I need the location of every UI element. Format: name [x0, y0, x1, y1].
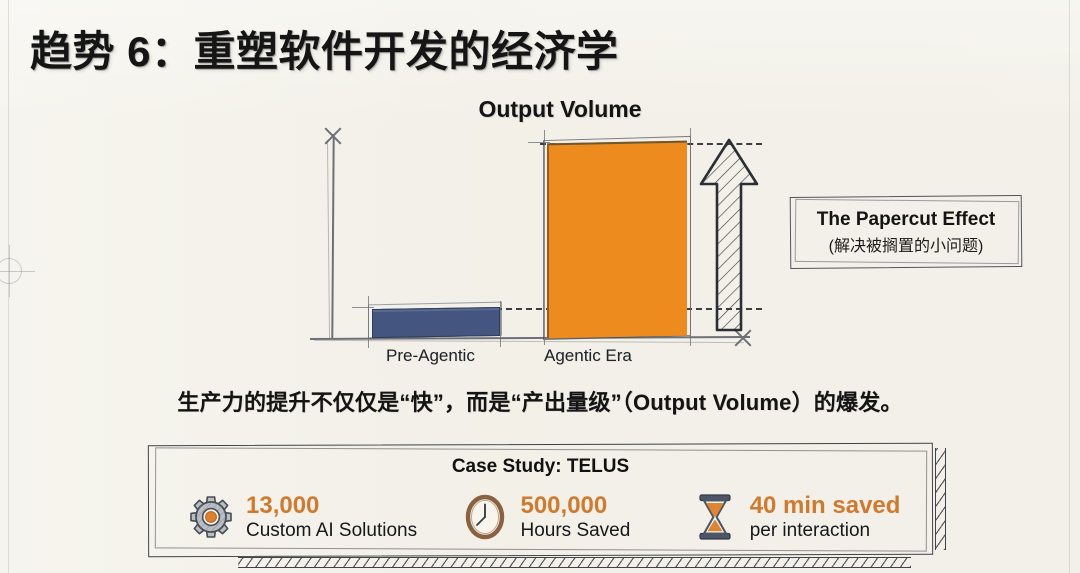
slide-canvas: 趋势 6：重塑软件开发的经济学 Output Volume — [0, 0, 1080, 573]
stat-text-group: 40 min saved per interaction — [750, 493, 901, 541]
stat-item-custom-ai-solutions: 13,000 Custom AI Solutions — [174, 492, 458, 542]
tick-pre-agentic-left — [368, 296, 369, 348]
output-volume-chart: Output Volume — [300, 96, 820, 376]
case-study-panel: Case Study: TELUS — [148, 444, 933, 556]
gear-icon — [188, 492, 234, 542]
slide-subtitle: 生产力的提升不仅仅是“快”，而是“产出量级”（Output Volume）的爆发… — [0, 385, 1080, 417]
stat-text-group: 500,000 Hours Saved — [520, 493, 630, 541]
callout-title: The Papercut Effect — [817, 209, 995, 231]
chart-title: Output Volume — [300, 96, 820, 123]
stat-item-hours-saved: 500,000 Hours Saved — [458, 492, 685, 542]
y-axis — [331, 134, 334, 339]
clock-icon — [462, 492, 508, 542]
stat-value: 13,000 — [246, 493, 417, 520]
panel-hatch-right — [935, 448, 946, 550]
stat-text-group: 13,000 Custom AI Solutions — [246, 493, 417, 541]
stat-value: 40 min saved — [750, 493, 901, 520]
stat-value: 500,000 — [520, 493, 630, 520]
callout-text-group: The Papercut Effect (解决被搁置的小问题) — [790, 196, 1022, 268]
y-axis-cross-icon — [322, 124, 344, 146]
bar-label-pre-agentic: Pre-Agentic — [386, 346, 475, 366]
stat-label: Custom AI Solutions — [246, 520, 417, 541]
tick-agentic-left — [544, 130, 545, 345]
tick-pre-agentic-right — [500, 301, 501, 347]
page-title: 趋势 6：重塑软件开发的经济学 — [30, 18, 619, 79]
case-study-title: Case Study: TELUS — [148, 456, 933, 478]
tick-agentic-right — [690, 128, 691, 346]
tick-agentic-top — [528, 142, 550, 143]
y-axis-sketch — [327, 140, 330, 338]
tick-pre-agentic-top — [352, 307, 374, 308]
growth-arrow-icon — [698, 136, 760, 336]
hourglass-icon — [692, 492, 738, 542]
stat-label: Hours Saved — [520, 520, 630, 541]
bar-label-agentic-era: Agentic Era — [544, 346, 632, 366]
panel-hatch-bottom — [238, 557, 911, 568]
bar-pre-agentic — [372, 307, 500, 338]
registration-line-right — [1069, 0, 1070, 573]
case-study-stats: 13,000 Custom AI Solutions 500,000 Hou — [174, 488, 913, 546]
x-axis-sketch — [314, 340, 744, 343]
stat-label: per interaction — [750, 520, 901, 541]
registration-crosshair-left — [0, 258, 22, 284]
stat-item-time-saved-per-interaction: 40 min saved per interaction — [686, 492, 913, 542]
callout-subtitle: (解决被搁置的小问题) — [829, 232, 984, 256]
papercut-effect-callout: The Papercut Effect (解决被搁置的小问题) — [790, 196, 1022, 268]
bar-agentic-era — [547, 141, 687, 339]
